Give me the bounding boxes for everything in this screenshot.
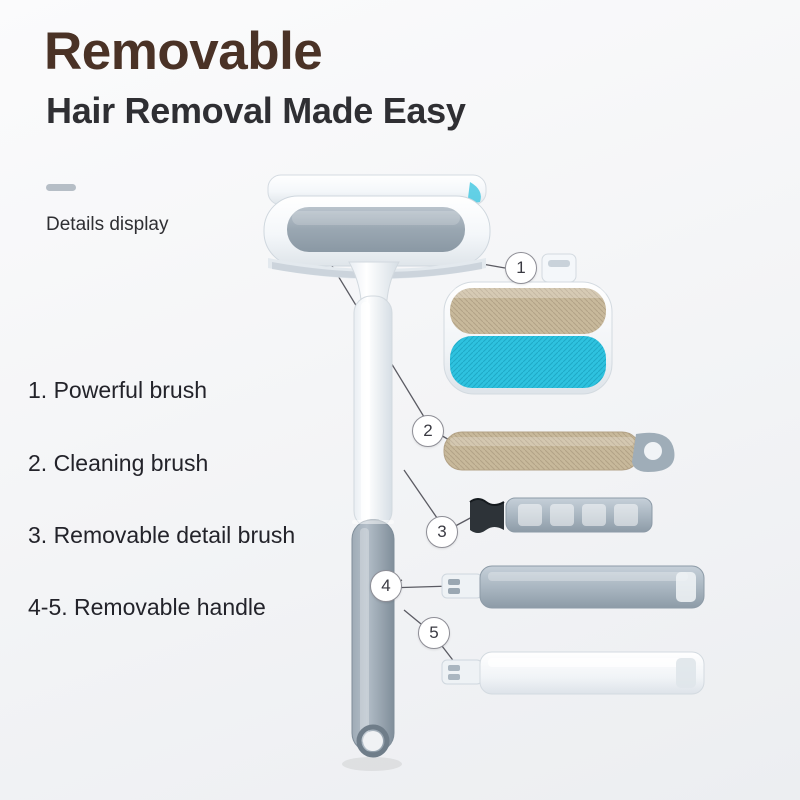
part-handle-segment-white <box>440 648 708 700</box>
callout-3[interactable]: 3 <box>426 516 458 548</box>
callout-2[interactable]: 2 <box>412 415 444 447</box>
callout-5[interactable]: 5 <box>418 617 450 649</box>
callout-1[interactable]: 1 <box>505 252 537 284</box>
part-handle-segment-grey <box>440 562 708 614</box>
part-removable-detail-brush <box>466 492 656 540</box>
product-infographic: Removable Hair Removal Made Easy Details… <box>0 0 800 800</box>
part-cleaning-brush-strip <box>440 420 682 482</box>
callout-4[interactable]: 4 <box>370 570 402 602</box>
